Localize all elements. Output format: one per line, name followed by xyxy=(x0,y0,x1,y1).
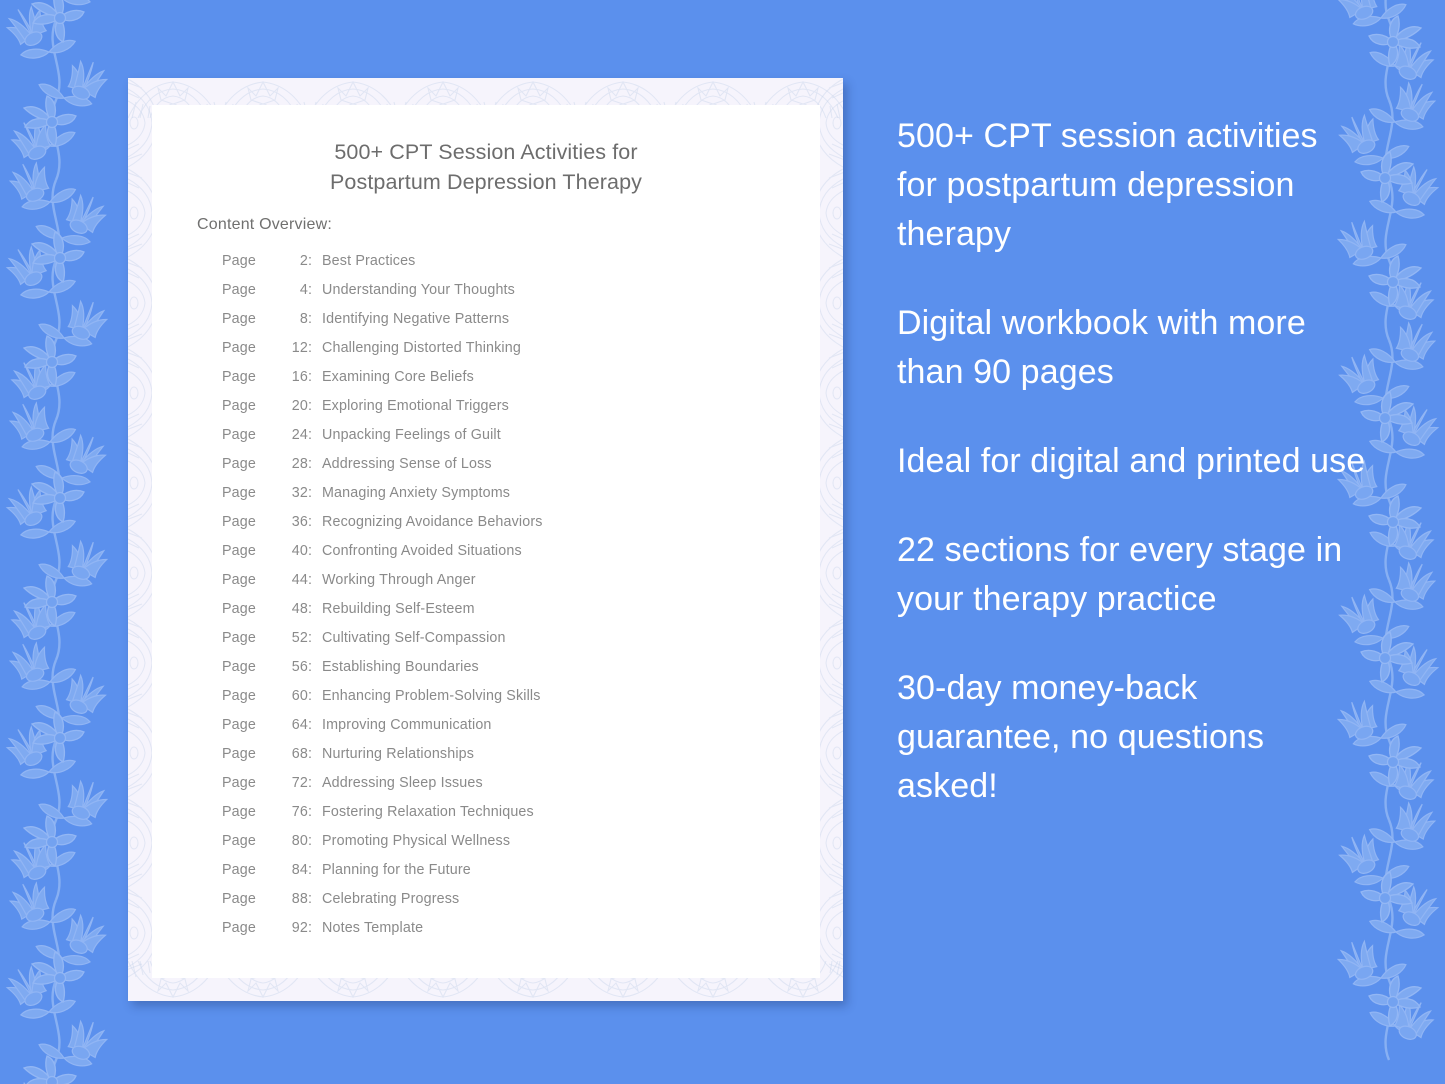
toc-section-title: Best Practices xyxy=(322,253,415,269)
toc-page-label: Page xyxy=(222,485,282,501)
toc-separator: : xyxy=(308,688,322,704)
workbook-page: 500+ CPT Session Activities for Postpart… xyxy=(152,105,820,978)
toc-row: Page44:Working Through Anger xyxy=(197,572,797,601)
toc-row: Page68:Nurturing Relationships xyxy=(197,746,797,775)
toc-separator: : xyxy=(308,311,322,327)
toc-page-number: 72 xyxy=(282,775,308,791)
toc-page-number: 12 xyxy=(282,340,308,356)
toc-page-label: Page xyxy=(222,717,282,733)
toc-section-title: Managing Anxiety Symptoms xyxy=(322,485,510,501)
toc-page-label: Page xyxy=(222,920,282,936)
toc-section-title: Planning for the Future xyxy=(322,862,471,878)
toc-page-number: 8 xyxy=(282,311,308,327)
toc-page-label: Page xyxy=(222,543,282,559)
toc-page-number: 2 xyxy=(282,253,308,269)
toc-separator: : xyxy=(308,775,322,791)
feature-item: 30-day money-back guarantee, no question… xyxy=(897,664,1367,811)
toc-row: Page80:Promoting Physical Wellness xyxy=(197,833,797,862)
toc-row: Page24:Unpacking Feelings of Guilt xyxy=(197,427,797,456)
toc-separator: : xyxy=(308,630,322,646)
toc-separator: : xyxy=(308,456,322,472)
toc-row: Page2:Best Practices xyxy=(197,253,797,282)
toc-row: Page32:Managing Anxiety Symptoms xyxy=(197,485,797,514)
toc-page-label: Page xyxy=(222,369,282,385)
toc-row: Page76:Fostering Relaxation Techniques xyxy=(197,804,797,833)
toc-section-title: Establishing Boundaries xyxy=(322,659,479,675)
toc-separator: : xyxy=(308,833,322,849)
toc-section-title: Celebrating Progress xyxy=(322,891,459,907)
toc-separator: : xyxy=(308,804,322,820)
toc-section-title: Enhancing Problem-Solving Skills xyxy=(322,688,541,704)
toc-page-label: Page xyxy=(222,601,282,617)
workbook-preview-card: 500+ CPT Session Activities for Postpart… xyxy=(128,78,843,1001)
toc-page-number: 60 xyxy=(282,688,308,704)
toc-section-title: Improving Communication xyxy=(322,717,492,733)
toc-page-number: 76 xyxy=(282,804,308,820)
toc-page-number: 84 xyxy=(282,862,308,878)
toc-row: Page12:Challenging Distorted Thinking xyxy=(197,340,797,369)
toc-separator: : xyxy=(308,746,322,762)
toc-page-number: 88 xyxy=(282,891,308,907)
toc-row: Page84:Planning for the Future xyxy=(197,862,797,891)
toc-separator: : xyxy=(308,920,322,936)
feature-item: 22 sections for every stage in your ther… xyxy=(897,526,1367,624)
toc-page-number: 36 xyxy=(282,514,308,530)
toc-row: Page88:Celebrating Progress xyxy=(197,891,797,920)
toc-section-title: Recognizing Avoidance Behaviors xyxy=(322,514,543,530)
toc-section-title: Unpacking Feelings of Guilt xyxy=(322,427,501,443)
toc-row: Page28:Addressing Sense of Loss xyxy=(197,456,797,485)
content-overview-label: Content Overview: xyxy=(197,216,332,234)
toc-page-label: Page xyxy=(222,311,282,327)
toc-row: Page60:Enhancing Problem-Solving Skills xyxy=(197,688,797,717)
toc-row: Page92:Notes Template xyxy=(197,920,797,949)
toc-page-number: 68 xyxy=(282,746,308,762)
toc-row: Page72:Addressing Sleep Issues xyxy=(197,775,797,804)
toc-section-title: Understanding Your Thoughts xyxy=(322,282,515,298)
toc-separator: : xyxy=(308,659,322,675)
toc-page-label: Page xyxy=(222,398,282,414)
table-of-contents: Page2:Best PracticesPage4:Understanding … xyxy=(197,253,797,949)
floral-vine-border-icon xyxy=(0,0,126,1084)
toc-page-label: Page xyxy=(222,862,282,878)
toc-page-label: Page xyxy=(222,746,282,762)
toc-row: Page64:Improving Communication xyxy=(197,717,797,746)
toc-section-title: Working Through Anger xyxy=(322,572,476,588)
feature-list: 500+ CPT session activities for postpart… xyxy=(897,112,1367,811)
toc-row: Page48:Rebuilding Self-Esteem xyxy=(197,601,797,630)
toc-row: Page16:Examining Core Beliefs xyxy=(197,369,797,398)
toc-row: Page8:Identifying Negative Patterns xyxy=(197,311,797,340)
toc-separator: : xyxy=(308,485,322,501)
toc-section-title: Cultivating Self-Compassion xyxy=(322,630,506,646)
toc-page-number: 52 xyxy=(282,630,308,646)
toc-section-title: Examining Core Beliefs xyxy=(322,369,474,385)
toc-row: Page36:Recognizing Avoidance Behaviors xyxy=(197,514,797,543)
toc-section-title: Addressing Sense of Loss xyxy=(322,456,492,472)
toc-separator: : xyxy=(308,862,322,878)
feature-item: Digital workbook with more than 90 pages xyxy=(897,299,1367,397)
toc-page-label: Page xyxy=(222,833,282,849)
toc-separator: : xyxy=(308,514,322,530)
toc-page-label: Page xyxy=(222,572,282,588)
toc-page-number: 64 xyxy=(282,717,308,733)
feature-item: Ideal for digital and printed use xyxy=(897,437,1367,486)
toc-page-label: Page xyxy=(222,514,282,530)
toc-page-label: Page xyxy=(222,282,282,298)
toc-page-label: Page xyxy=(222,456,282,472)
toc-page-number: 32 xyxy=(282,485,308,501)
toc-page-number: 44 xyxy=(282,572,308,588)
toc-page-label: Page xyxy=(222,340,282,356)
toc-separator: : xyxy=(308,369,322,385)
toc-section-title: Promoting Physical Wellness xyxy=(322,833,510,849)
toc-page-label: Page xyxy=(222,775,282,791)
toc-row: Page20:Exploring Emotional Triggers xyxy=(197,398,797,427)
toc-section-title: Fostering Relaxation Techniques xyxy=(322,804,534,820)
toc-page-number: 92 xyxy=(282,920,308,936)
toc-section-title: Challenging Distorted Thinking xyxy=(322,340,521,356)
toc-section-title: Confronting Avoided Situations xyxy=(322,543,522,559)
toc-section-title: Identifying Negative Patterns xyxy=(322,311,509,327)
toc-row: Page56:Establishing Boundaries xyxy=(197,659,797,688)
toc-separator: : xyxy=(308,340,322,356)
toc-section-title: Rebuilding Self-Esteem xyxy=(322,601,475,617)
toc-separator: : xyxy=(308,398,322,414)
toc-page-number: 4 xyxy=(282,282,308,298)
toc-separator: : xyxy=(308,253,322,269)
toc-page-label: Page xyxy=(222,253,282,269)
poster-canvas: 500+ CPT Session Activities for Postpart… xyxy=(0,0,1445,1084)
toc-page-number: 40 xyxy=(282,543,308,559)
toc-page-label: Page xyxy=(222,804,282,820)
toc-section-title: Exploring Emotional Triggers xyxy=(322,398,509,414)
toc-row: Page40:Confronting Avoided Situations xyxy=(197,543,797,572)
toc-separator: : xyxy=(308,572,322,588)
toc-row: Page52:Cultivating Self-Compassion xyxy=(197,630,797,659)
toc-section-title: Addressing Sleep Issues xyxy=(322,775,483,791)
page-title: 500+ CPT Session Activities for Postpart… xyxy=(152,137,820,197)
toc-separator: : xyxy=(308,891,322,907)
toc-page-number: 24 xyxy=(282,427,308,443)
toc-page-number: 48 xyxy=(282,601,308,617)
toc-page-number: 20 xyxy=(282,398,308,414)
toc-separator: : xyxy=(308,282,322,298)
toc-page-label: Page xyxy=(222,891,282,907)
toc-page-number: 80 xyxy=(282,833,308,849)
feature-item: 500+ CPT session activities for postpart… xyxy=(897,112,1367,259)
toc-page-number: 28 xyxy=(282,456,308,472)
toc-page-label: Page xyxy=(222,688,282,704)
toc-separator: : xyxy=(308,717,322,733)
toc-page-number: 16 xyxy=(282,369,308,385)
toc-section-title: Nurturing Relationships xyxy=(322,746,474,762)
toc-separator: : xyxy=(308,427,322,443)
toc-page-label: Page xyxy=(222,630,282,646)
toc-page-label: Page xyxy=(222,427,282,443)
toc-section-title: Notes Template xyxy=(322,920,423,936)
toc-page-number: 56 xyxy=(282,659,308,675)
toc-page-label: Page xyxy=(222,659,282,675)
toc-separator: : xyxy=(308,543,322,559)
toc-row: Page4:Understanding Your Thoughts xyxy=(197,282,797,311)
toc-separator: : xyxy=(308,601,322,617)
